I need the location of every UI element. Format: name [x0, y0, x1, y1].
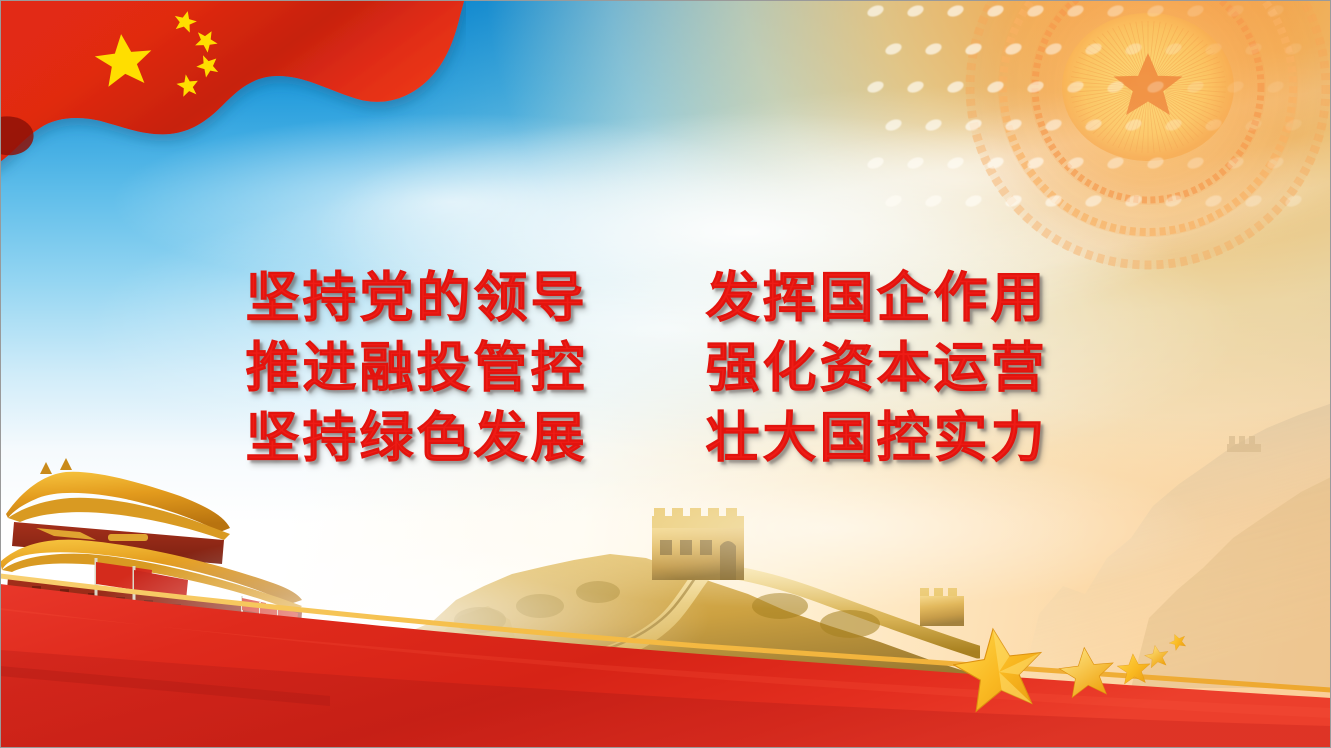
decorative-dot	[1204, 41, 1224, 57]
decorative-dot	[964, 117, 984, 133]
decorative-dot	[1044, 117, 1064, 133]
decorative-dot	[924, 41, 944, 57]
decorative-dot	[1266, 79, 1286, 95]
decorative-dot	[1044, 193, 1064, 209]
decorative-dot	[1066, 79, 1086, 95]
decorative-dot	[1146, 79, 1166, 95]
five-pointed-star-icon	[1167, 631, 1189, 652]
slogan-block: 坚持党的领导 发挥国企作用 推进融投管控 强化资本运营 坚持绿色发展 壮大国控实…	[0, 262, 1331, 472]
slogan-line-2-left: 推进融投管控	[246, 334, 626, 400]
decorative-dot	[986, 79, 1006, 95]
decorative-dot	[1066, 3, 1086, 19]
five-pointed-star-icon	[1057, 645, 1116, 699]
decorative-dot	[1084, 117, 1104, 133]
slogan-line-1-right: 发挥国企作用	[706, 264, 1086, 330]
decorative-dot	[1146, 155, 1166, 171]
decorative-dot	[884, 117, 904, 133]
decorative-dot	[1084, 41, 1104, 57]
decorative-dot	[1026, 155, 1046, 171]
decorative-dot	[906, 155, 926, 171]
slogan-line-3-left: 坚持绿色发展	[246, 404, 626, 470]
decorative-dot	[1106, 155, 1126, 171]
decorative-dot	[1026, 3, 1046, 19]
slogan-row: 坚持绿色发展 壮大国控实力	[246, 402, 1086, 472]
decorative-dot	[1244, 117, 1264, 133]
decorative-dot	[866, 3, 886, 19]
decorative-dot	[866, 155, 886, 171]
decorative-dot	[1284, 193, 1304, 209]
five-pointed-star-icon	[953, 623, 1048, 714]
decorative-dot	[1084, 193, 1104, 209]
decorative-dot	[1146, 3, 1166, 19]
decorative-dot	[1204, 193, 1224, 209]
decorative-dot	[1284, 117, 1304, 133]
decorative-dot	[1226, 79, 1246, 95]
decorative-dot	[1026, 79, 1046, 95]
decorative-dot	[1244, 41, 1264, 57]
decorative-dot	[946, 79, 966, 95]
decorative-dot	[906, 79, 926, 95]
decorative-dot	[1186, 155, 1206, 171]
decorative-dot	[906, 3, 926, 19]
decorative-dot	[1204, 117, 1224, 133]
decorative-dot	[1106, 3, 1126, 19]
decorative-dot	[946, 155, 966, 171]
decorative-dot	[1004, 193, 1024, 209]
slogan-line-3-right: 壮大国控实力	[706, 404, 1086, 470]
slogan-line-2-right: 强化资本运营	[706, 334, 1086, 400]
decorative-dot	[1284, 41, 1304, 57]
decorative-dot	[964, 193, 984, 209]
decorative-dot	[1164, 117, 1184, 133]
decorative-dot	[884, 41, 904, 57]
decorative-dot	[946, 3, 966, 19]
decorative-dot	[1244, 193, 1264, 209]
slogan-line-1-left: 坚持党的领导	[246, 264, 626, 330]
five-pointed-star-icon	[1116, 653, 1151, 685]
decorative-dot	[1004, 41, 1024, 57]
decorative-dot	[1106, 79, 1126, 95]
decorative-dot	[884, 193, 904, 209]
decorative-dot	[1044, 41, 1064, 57]
decorative-dot	[1226, 3, 1246, 19]
decorative-dot	[1004, 117, 1024, 133]
poster-canvas: 坚持党的领导 发挥国企作用 推进融投管控 强化资本运营 坚持绿色发展 壮大国控实…	[0, 0, 1331, 748]
decorative-dot	[1124, 117, 1144, 133]
decorative-dot	[1124, 193, 1144, 209]
decorative-dot	[1266, 3, 1286, 19]
decorative-dot	[964, 41, 984, 57]
decorative-dot	[986, 155, 1006, 171]
decorative-dot	[866, 79, 886, 95]
decorative-dot	[1226, 155, 1246, 171]
decorative-dot	[924, 117, 944, 133]
decorative-dot	[1186, 79, 1206, 95]
decorative-dot	[1066, 155, 1086, 171]
decorative-dot	[1124, 41, 1144, 57]
ribbon-star-group	[953, 612, 1253, 722]
china-flag-icon	[0, 0, 466, 194]
decorative-dot	[1164, 41, 1184, 57]
decorative-dot	[924, 193, 944, 209]
decorative-dot-grid	[861, 0, 1331, 250]
decorative-dot	[986, 3, 1006, 19]
slogan-row: 推进融投管控 强化资本运营	[246, 332, 1086, 402]
slogan-row: 坚持党的领导 发挥国企作用	[246, 262, 1086, 332]
decorative-dot	[1164, 193, 1184, 209]
decorative-dot	[1186, 3, 1206, 19]
decorative-dot	[1266, 155, 1286, 171]
